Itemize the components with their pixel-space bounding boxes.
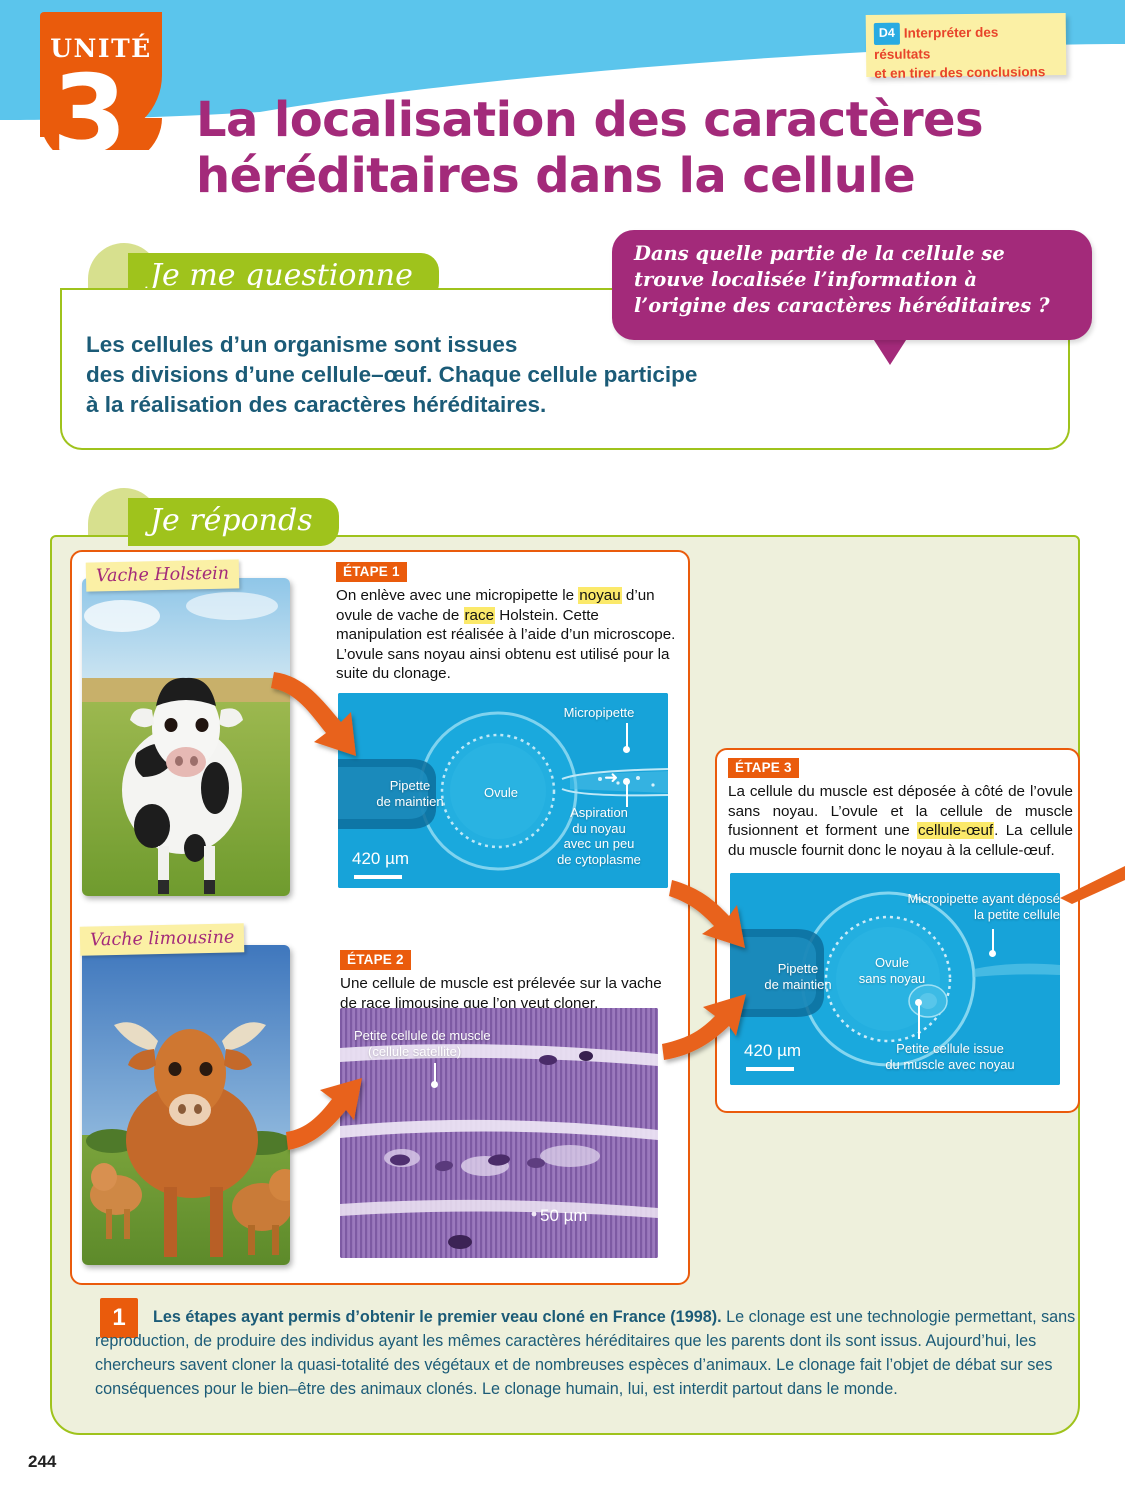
caption-bold: Les étapes ayant permis d’obtenir le pre… bbox=[153, 1308, 722, 1326]
caption-text: Les étapes ayant permis d’obtenir le pre… bbox=[95, 1305, 1080, 1401]
section-tab-je-reponds: Je réponds bbox=[128, 498, 339, 546]
connector-arrows bbox=[0, 0, 1125, 1500]
arrow-micro2-to-micro3 bbox=[662, 994, 746, 1060]
unit-number: 3 bbox=[52, 62, 162, 182]
arrow-exit-right bbox=[1060, 866, 1125, 904]
photo-tag-limousine: Vache limousine bbox=[80, 923, 245, 955]
arrow-limousine-to-micro2 bbox=[286, 1078, 362, 1150]
page-number: 244 bbox=[28, 1452, 56, 1472]
photo-tag-holstein: Vache Holstein bbox=[86, 559, 240, 591]
arrow-micro1-to-micro3 bbox=[669, 880, 745, 948]
arrow-holstein-to-micro1 bbox=[271, 672, 356, 756]
